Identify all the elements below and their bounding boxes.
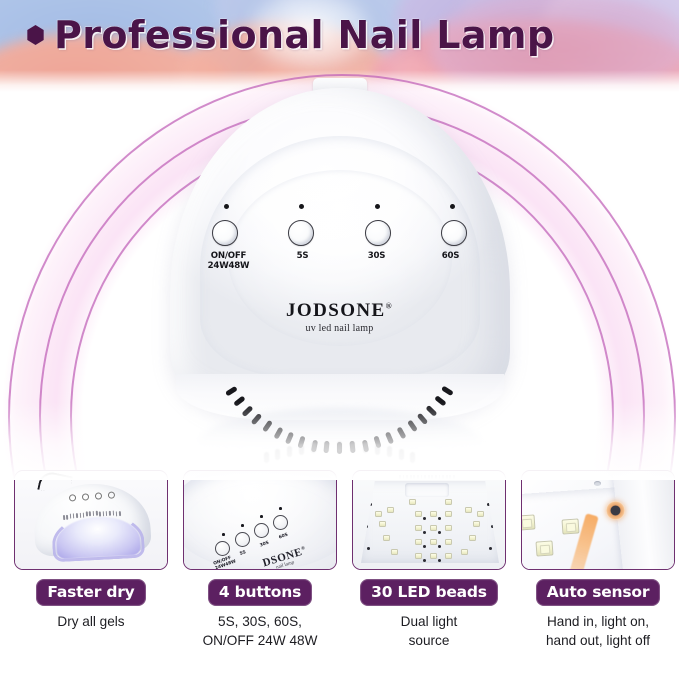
- led-bead: [375, 511, 382, 517]
- thumb-screw-hole-icon: [594, 481, 601, 486]
- led-indicator-dot: [224, 204, 229, 209]
- feature-caption-30-led-beads: Dual light source: [352, 613, 506, 651]
- thumb-button-60s[interactable]: [273, 515, 288, 530]
- feature-thumb-glowing-lamp[interactable]: [14, 470, 168, 570]
- feature-badge-label: Faster dry: [38, 583, 143, 601]
- led-bead: [469, 535, 476, 541]
- lamp-button-label-5s: 5S: [282, 252, 324, 272]
- lamp-button-label-onoff: ON/OFF 24W48W: [208, 252, 250, 272]
- feature-caption-line1: Dual light: [352, 613, 506, 632]
- feature-thumb-auto-sensor[interactable]: [521, 470, 675, 570]
- lamp-button-60s[interactable]: [441, 220, 467, 246]
- led-bead: [409, 499, 416, 505]
- thumb-vent-tick: [109, 511, 111, 516]
- thumb-vent-tick: [112, 511, 114, 516]
- led-bead: [415, 525, 422, 531]
- thumb-vent-tick: [66, 514, 68, 519]
- thumb-vent-tick: [116, 511, 118, 516]
- thumb-vent-tick: [102, 511, 104, 516]
- led-bead: [391, 549, 398, 555]
- led-bead: [438, 531, 441, 534]
- led-bead: [473, 521, 480, 527]
- lamp-button-label-30s: 30S: [356, 252, 398, 272]
- feature-badge-label: 30 LED beads: [362, 583, 496, 601]
- led-indicator-dot: [375, 204, 380, 209]
- feature-panel-4-buttons: ON/OFF24W48W 5S 30S 60S DSONE® nail lamp…: [183, 470, 337, 651]
- thumb-vent-tick: [119, 511, 121, 516]
- feature-badge-label: 4 buttons: [210, 583, 310, 601]
- led-bead: [415, 553, 422, 559]
- led-bead: [445, 539, 452, 545]
- led-bead: [423, 545, 426, 548]
- feature-panel-auto-sensor: Auto sensor Hand in, light on, hand out,…: [521, 470, 675, 651]
- led-bead: [423, 559, 426, 562]
- led-bead: [415, 539, 422, 545]
- infographic-page: Professional Nail Lamp: [0, 0, 679, 679]
- feature-caption-auto-sensor: Hand in, light on, hand out, light off: [521, 613, 675, 651]
- registered-mark: ®: [386, 302, 393, 311]
- lamp-button-30s[interactable]: [365, 220, 391, 246]
- feature-thumb-led-array[interactable]: [352, 470, 506, 570]
- led-bead: [477, 511, 484, 517]
- hexagon-bullet-icon: [26, 25, 45, 45]
- lamp-button-labels: ON/OFF 24W48W 5S 30S 60S: [206, 252, 474, 272]
- feature-panel-30-led-beads: 30 LED beads Dual light source: [352, 470, 506, 651]
- thumb-led-bead: [561, 518, 579, 534]
- thumb-vent-tick: [73, 514, 75, 519]
- thumb-vent-tick: [79, 513, 81, 518]
- thumb-vent-tick: [63, 515, 65, 520]
- feature-caption-line2: hand out, light off: [521, 632, 675, 651]
- thumb-button-5s[interactable]: [235, 532, 250, 547]
- lamp-button-onoff[interactable]: [212, 220, 238, 246]
- thumb-vent-tick: [86, 512, 88, 517]
- page-title-row: Professional Nail Lamp: [26, 16, 555, 54]
- thumb-button-onoff[interactable]: [215, 541, 230, 556]
- feature-caption-line1: 5S, 30S, 60S,: [183, 613, 337, 632]
- led-bead: [438, 559, 441, 562]
- lamp-vent-slot: [441, 386, 454, 396]
- feature-caption-line1: Hand in, light on,: [521, 613, 675, 632]
- thumb-vent-tick: [96, 511, 98, 516]
- feature-caption-line2: ON/OFF 24W 48W: [183, 632, 337, 651]
- led-bead: [430, 553, 437, 559]
- led-bead: [445, 553, 452, 559]
- led-bead: [387, 507, 394, 513]
- led-bead: [445, 511, 452, 517]
- thumb-button-30s[interactable]: [254, 523, 269, 538]
- lamp-button-label-60s: 60S: [430, 252, 472, 272]
- feature-badge-faster-dry: Faster dry: [36, 579, 145, 606]
- thumb-led-dot: [260, 515, 263, 518]
- page-title: Professional Nail Lamp: [54, 16, 555, 54]
- led-indicator-row: [206, 204, 474, 209]
- feature-panel-faster-dry: Faster dry Dry all gels: [14, 470, 168, 632]
- feature-thumb-button-panel[interactable]: ON/OFF24W48W 5S 30S 60S DSONE® nail lamp: [183, 470, 337, 570]
- thumb-vent-tick: [89, 511, 91, 516]
- feature-badge-label: Auto sensor: [538, 583, 659, 601]
- led-bead: [430, 539, 437, 545]
- thumb-top-reflector: [405, 483, 449, 497]
- led-bead: [461, 549, 468, 555]
- led-bead: [415, 511, 422, 517]
- led-indicator-dot: [299, 204, 304, 209]
- led-bead: [438, 517, 441, 520]
- thumb-vent-tick: [99, 511, 101, 516]
- led-bead: [438, 545, 441, 548]
- brand-subtitle: uv led nail lamp: [170, 323, 510, 334]
- feature-caption-line2: source: [352, 632, 506, 651]
- thumb-led-bead: [535, 540, 553, 556]
- led-bead: [489, 547, 492, 550]
- led-bead: [465, 507, 472, 513]
- lamp-button-5s[interactable]: [288, 220, 314, 246]
- auto-sensor-icon: [606, 501, 625, 520]
- feature-panels: Faster dry Dry all gels ON/OFF24W48W 5S: [0, 470, 679, 679]
- led-bead: [423, 517, 426, 520]
- thumb-vent-tick: [76, 513, 78, 518]
- thumb-led-dot: [279, 507, 282, 510]
- thumb-panel-edge: [612, 470, 675, 570]
- thumb-led-bead: [521, 514, 536, 530]
- thumb-vent-tick: [83, 512, 85, 517]
- led-bead: [445, 499, 452, 505]
- product-lamp-image: ON/OFF 24W48W 5S 30S 60S JODSONE® uv led…: [170, 78, 510, 448]
- led-bead: [367, 547, 370, 550]
- lamp-brand-block: JODSONE® uv led nail lamp: [170, 300, 510, 334]
- thumb-vent-tick: [69, 514, 71, 519]
- feature-badge-auto-sensor: Auto sensor: [536, 579, 661, 606]
- feature-badge-4-buttons: 4 buttons: [208, 579, 312, 606]
- hero-product-section: ON/OFF 24W48W 5S 30S 60S JODSONE® uv led…: [0, 70, 679, 480]
- led-bead: [445, 525, 452, 531]
- thumb-vent-tick: [92, 511, 94, 516]
- thumb-surface-sweep: [183, 470, 337, 570]
- led-bead: [430, 511, 437, 517]
- led-bead: [379, 521, 386, 527]
- lamp-vent-slot: [225, 386, 238, 396]
- thumb-vent-tick: [106, 511, 108, 516]
- feature-badge-30-led-beads: 30 LED beads: [360, 579, 498, 606]
- feature-caption-line1: Dry all gels: [14, 613, 168, 632]
- led-indicator-dot: [450, 204, 455, 209]
- brand-name: JODSONE®: [170, 300, 510, 322]
- feature-caption-faster-dry: Dry all gels: [14, 613, 168, 632]
- hero-bottom-fade: [0, 402, 679, 480]
- thumb-led-dot: [222, 533, 225, 536]
- lamp-button-row: [206, 220, 474, 246]
- feature-caption-4-buttons: 5S, 30S, 60S, ON/OFF 24W 48W: [183, 613, 337, 651]
- led-bead: [423, 531, 426, 534]
- led-bead: [383, 535, 390, 541]
- led-bead: [430, 525, 437, 531]
- thumb-led-dot: [241, 524, 244, 527]
- brand-name-text: JODSONE: [286, 300, 386, 321]
